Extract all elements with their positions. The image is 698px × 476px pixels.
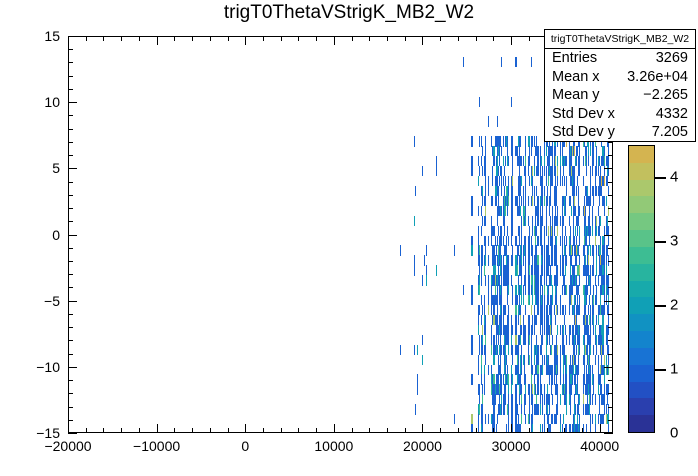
histogram-bin (505, 206, 506, 216)
palette-tick (655, 305, 666, 307)
histogram-bin (417, 345, 418, 355)
y-major-tick (68, 367, 77, 368)
histogram-bin (512, 285, 513, 295)
y-minor-tick (68, 354, 73, 355)
palette-cell (629, 146, 654, 164)
histogram-bin (501, 57, 502, 67)
histogram-bin (590, 166, 591, 176)
histogram-bin (488, 365, 489, 375)
y-minor-tick-right (608, 327, 613, 328)
histogram-bin (574, 186, 575, 196)
histogram-bin (532, 295, 533, 305)
y-minor-tick (68, 393, 73, 394)
histogram-bin (506, 236, 507, 246)
histogram-bin (525, 176, 526, 186)
x-minor-tick-top (139, 36, 140, 41)
histogram-bin (508, 275, 509, 285)
histogram-bin (585, 305, 586, 315)
histogram-bin (604, 305, 605, 315)
histogram-bin (555, 176, 556, 186)
histogram-bin (491, 285, 492, 295)
y-minor-tick (68, 407, 73, 408)
histogram-bin (518, 275, 519, 285)
histogram-bin (540, 404, 541, 414)
x-minor-tick-top (192, 36, 193, 41)
histogram-bin (524, 404, 525, 414)
histogram-bin (577, 295, 578, 305)
histogram-bin (422, 355, 423, 365)
histogram-bin (488, 305, 489, 315)
histogram-bin (604, 245, 605, 255)
histogram-bin (587, 315, 588, 325)
histogram-bin (525, 325, 526, 335)
histogram-bin (531, 146, 532, 156)
histogram-bin (482, 325, 483, 335)
y-major-tick (68, 102, 77, 103)
histogram-bin (478, 414, 479, 424)
histogram-bin (508, 176, 509, 186)
histogram-bin (481, 156, 482, 166)
histogram-bin (604, 404, 605, 414)
x-major-tick (157, 424, 158, 433)
histogram-bin (548, 236, 549, 246)
histogram-bin (479, 97, 480, 107)
histogram-bin (501, 146, 502, 156)
histogram-bin (485, 255, 486, 265)
histogram-bin (529, 325, 530, 335)
histogram-bin (570, 404, 571, 414)
histogram-bin (552, 295, 553, 305)
histogram-bin (521, 404, 522, 414)
histogram-bin (503, 255, 504, 265)
y-minor-tick-right (608, 354, 613, 355)
histogram-bin (532, 275, 533, 285)
histogram-bin (482, 255, 483, 265)
stats-box[interactable]: trigT0ThetaVStrigK_MB2_W2 Entries3269Mea… (544, 29, 696, 142)
histogram-bin (471, 206, 472, 216)
histogram-bin (606, 404, 607, 414)
histogram-bin (575, 335, 576, 345)
histogram-bin (508, 374, 509, 384)
histogram-bin (601, 384, 602, 394)
histogram-bin (583, 404, 584, 414)
histogram-bin (519, 146, 520, 156)
histogram-bin (512, 295, 513, 305)
y-major-tick-right (604, 168, 613, 169)
histogram-bin (495, 255, 496, 265)
histogram-bin (557, 384, 558, 394)
histogram-bin (479, 255, 480, 265)
histogram-bin (579, 424, 580, 433)
histogram-bin (566, 355, 567, 365)
histogram-bin (584, 355, 585, 365)
histogram-bin (579, 335, 580, 345)
histogram-bin (512, 424, 513, 433)
histogram-bin (532, 414, 533, 424)
histogram-bin (515, 305, 516, 315)
histogram-bin (590, 345, 591, 355)
histogram-bin (479, 275, 480, 285)
histogram-bin (551, 384, 552, 394)
histogram-bin (493, 305, 494, 315)
histogram-bin (512, 176, 513, 186)
histogram-bin (604, 255, 605, 265)
histogram-bin (515, 315, 516, 325)
histogram-bin (507, 146, 508, 156)
histogram-bin (588, 305, 589, 315)
histogram-bin (592, 394, 593, 404)
histogram-bin (546, 275, 547, 285)
x-minor-tick-top (369, 36, 370, 41)
histogram-bin (536, 315, 537, 325)
histogram-bin (563, 216, 564, 226)
histogram-bin (560, 216, 561, 226)
histogram-bin (566, 404, 567, 414)
histogram-bin (507, 365, 508, 375)
histogram-bin (590, 265, 591, 275)
histogram-bin (479, 404, 480, 414)
histogram-bin (478, 236, 479, 246)
histogram-bin (436, 156, 437, 166)
histogram-bin (508, 265, 509, 275)
palette-label: 0 (670, 425, 678, 442)
x-major-tick-top (157, 36, 158, 45)
histogram-bin (518, 365, 519, 375)
histogram-bin (566, 365, 567, 375)
histogram-bin (556, 186, 557, 196)
histogram-bin (521, 295, 522, 305)
histogram-bin (556, 245, 557, 255)
histogram-bin (501, 295, 502, 305)
histogram-bin (508, 424, 509, 433)
histogram-bin (532, 255, 533, 265)
histogram-bin (519, 226, 520, 236)
histogram-bin (535, 236, 536, 246)
histogram-bin (485, 166, 486, 176)
histogram-bin (574, 345, 575, 355)
histogram-bin (544, 226, 545, 236)
histogram-bin (500, 365, 501, 375)
histogram-bin (560, 265, 561, 275)
histogram-bin (549, 156, 550, 166)
histogram-bin (560, 236, 561, 246)
histogram-bin (524, 365, 525, 375)
palette-cell (629, 247, 654, 265)
histogram-bin (531, 374, 532, 384)
histogram-bin (587, 186, 588, 196)
histogram-bin (485, 136, 486, 146)
histogram-bin (602, 325, 603, 335)
histogram-bin (550, 265, 551, 275)
histogram-bin (521, 414, 522, 424)
histogram-bin (525, 335, 526, 345)
palette-cell (629, 264, 654, 282)
histogram-bin (592, 166, 593, 176)
histogram-bin (589, 404, 590, 414)
plot-frame (68, 36, 613, 433)
palette-cell (629, 230, 654, 248)
histogram-bin (512, 146, 513, 156)
histogram-bin (596, 295, 597, 305)
x-minor-tick (281, 428, 282, 433)
histogram-bin (588, 146, 589, 156)
histogram-bin (436, 265, 437, 275)
histogram-bin (498, 196, 499, 206)
histogram-bin (590, 226, 591, 236)
histogram-bin (511, 275, 512, 285)
histogram-bin (532, 285, 533, 295)
histogram-bin (505, 345, 506, 355)
y-major-tick-right (604, 235, 613, 236)
histogram-bin (523, 196, 524, 206)
histogram-bin (552, 414, 553, 424)
y-minor-tick (68, 76, 73, 77)
x-minor-tick-top (210, 36, 211, 41)
histogram-bin (471, 345, 472, 355)
y-axis-label: 10 (0, 94, 60, 110)
histogram-bin (537, 384, 538, 394)
y-minor-tick-right (608, 314, 613, 315)
histogram-bin (519, 295, 520, 305)
histogram-bin (529, 394, 530, 404)
x-axis-label: 40000 (580, 438, 619, 454)
histogram-bin (542, 196, 543, 206)
histogram-bin (584, 365, 585, 375)
histogram-bin (608, 275, 609, 285)
x-minor-tick-top (458, 36, 459, 41)
histogram-bin (576, 255, 577, 265)
histogram-bin (479, 265, 480, 275)
histogram-bin (550, 216, 551, 226)
histogram-bin (505, 365, 506, 375)
histogram-bin (606, 355, 607, 365)
histogram-bin (579, 146, 580, 156)
histogram-bin (592, 206, 593, 216)
histogram-bin (566, 236, 567, 246)
histogram-bin (512, 345, 513, 355)
histogram-bin (485, 325, 486, 335)
histogram-bin (482, 335, 483, 345)
histogram-bin (589, 206, 590, 216)
histogram-bin (540, 394, 541, 404)
histogram-bin (584, 245, 585, 255)
histogram-bin (488, 176, 489, 186)
histogram-bin (593, 285, 594, 295)
histogram-bin (546, 226, 547, 236)
histogram-bin (498, 355, 499, 365)
histogram-bin (551, 325, 552, 335)
histogram-bin (481, 295, 482, 305)
histogram-bin (481, 355, 482, 365)
histogram-bin (541, 384, 542, 394)
histogram-bin (417, 374, 418, 384)
histogram-bin (574, 166, 575, 176)
stats-row-label: Mean x (552, 68, 600, 87)
histogram-bin (575, 295, 576, 305)
histogram-bin (485, 355, 486, 365)
x-minor-tick (210, 428, 211, 433)
histogram-bin (604, 384, 605, 394)
histogram-bin (578, 186, 579, 196)
histogram-bin (560, 176, 561, 186)
histogram-bin (491, 335, 492, 345)
histogram-bin (555, 315, 556, 325)
histogram-bin (578, 355, 579, 365)
histogram-bin (557, 156, 558, 166)
histogram-bin (556, 335, 557, 345)
y-minor-tick (68, 314, 73, 315)
histogram-bin (534, 355, 535, 365)
histogram-bin (512, 216, 513, 226)
histogram-bin (436, 166, 437, 176)
y-minor-tick (68, 221, 73, 222)
x-minor-tick-top (529, 36, 530, 41)
histogram-bin (544, 245, 545, 255)
histogram-bin (552, 156, 553, 166)
x-major-tick (600, 424, 601, 433)
histogram-bin (492, 176, 493, 186)
histogram-bin (570, 325, 571, 335)
histogram-bin (532, 216, 533, 226)
histogram-bin (528, 166, 529, 176)
histogram-bin (577, 384, 578, 394)
histogram-bin (479, 345, 480, 355)
histogram-bin (544, 146, 545, 156)
histogram-bin (508, 285, 509, 295)
x-minor-tick-top (121, 36, 122, 41)
histogram-bin (501, 404, 502, 414)
histogram-bin (481, 374, 482, 384)
x-major-tick (422, 424, 423, 433)
histogram-bin (586, 275, 587, 285)
histogram-bin (505, 156, 506, 166)
x-minor-tick (228, 428, 229, 433)
histogram-bin (503, 136, 504, 146)
histogram-bin (565, 265, 566, 275)
histogram-bin (566, 394, 567, 404)
histogram-bin (505, 394, 506, 404)
histogram-bin (508, 345, 509, 355)
histogram-bin (535, 384, 536, 394)
histogram-bin (529, 226, 530, 236)
histogram-bin (479, 166, 480, 176)
histogram-bin (575, 355, 576, 365)
histogram-bin (590, 365, 591, 375)
histogram-bin (593, 196, 594, 206)
x-axis-label: −20000 (44, 438, 91, 454)
histogram-bin (557, 325, 558, 335)
histogram-bin (497, 414, 498, 424)
histogram-bin (583, 394, 584, 404)
histogram-bin (571, 255, 572, 265)
histogram-bin (520, 305, 521, 315)
stats-row-value: 7.205 (652, 123, 688, 142)
y-major-tick-right (604, 301, 613, 302)
palette-tick (655, 369, 666, 371)
histogram-bin (552, 335, 553, 345)
histogram-bin (499, 156, 500, 166)
histogram-bin (529, 414, 530, 424)
histogram-bin (551, 345, 552, 355)
histogram-bin (560, 166, 561, 176)
histogram-bin (511, 315, 512, 325)
histogram-bin (541, 156, 542, 166)
histogram-bin (593, 384, 594, 394)
histogram-bin (508, 414, 509, 424)
histogram-bin (512, 374, 513, 384)
histogram-bin (593, 305, 594, 315)
histogram-bin (587, 394, 588, 404)
histogram-bin (525, 265, 526, 275)
histogram-bin (496, 196, 497, 206)
x-axis-label: 10000 (314, 438, 353, 454)
histogram-bin (485, 245, 486, 255)
y-axis-label: −5 (0, 293, 60, 309)
histogram-bin (562, 226, 563, 236)
histogram-bin (471, 166, 472, 176)
x-minor-tick-top (405, 36, 406, 41)
histogram-bin (524, 355, 525, 365)
histogram-bin (592, 414, 593, 424)
histogram-bin (479, 305, 480, 315)
x-minor-tick-top (440, 36, 441, 41)
histogram-bin (573, 365, 574, 375)
histogram-bin (542, 305, 543, 315)
y-minor-tick (68, 115, 73, 116)
histogram-bin (557, 176, 558, 186)
histogram-bin (569, 335, 570, 345)
histogram-bin (590, 245, 591, 255)
palette-tick (655, 241, 666, 243)
stats-row-label: Std Dev y (552, 123, 615, 142)
histogram-bin (556, 414, 557, 424)
histogram-bin (544, 236, 545, 246)
y-minor-tick-right (608, 380, 613, 381)
histogram-bin (579, 226, 580, 236)
histogram-bin (598, 414, 599, 424)
histogram-bin (590, 186, 591, 196)
histogram-bin (584, 335, 585, 345)
histogram-bin (512, 136, 513, 146)
y-major-tick (68, 36, 77, 37)
histogram-bin (566, 335, 567, 345)
histogram-bin (482, 414, 483, 424)
histogram-bin (551, 305, 552, 315)
histogram-bin (548, 315, 549, 325)
histogram-bin (501, 236, 502, 246)
histogram-bin (542, 216, 543, 226)
histogram-bin (501, 315, 502, 325)
histogram-bin (579, 325, 580, 335)
histogram-bin (484, 384, 485, 394)
histogram-bin (595, 355, 596, 365)
histogram-bin (542, 335, 543, 345)
y-minor-tick-right (608, 393, 613, 394)
histogram-bin (485, 275, 486, 285)
histogram-bin (515, 384, 516, 394)
histogram-bin (512, 404, 513, 414)
histogram-bin (415, 404, 416, 414)
histogram-bin (578, 196, 579, 206)
histogram-bin (564, 345, 565, 355)
histogram-bin (512, 394, 513, 404)
histogram-bin (555, 156, 556, 166)
histogram-bin (503, 236, 504, 246)
histogram-bin (537, 166, 538, 176)
y-minor-tick (68, 380, 73, 381)
histogram-bin (563, 265, 564, 275)
histogram-bin (528, 345, 529, 355)
